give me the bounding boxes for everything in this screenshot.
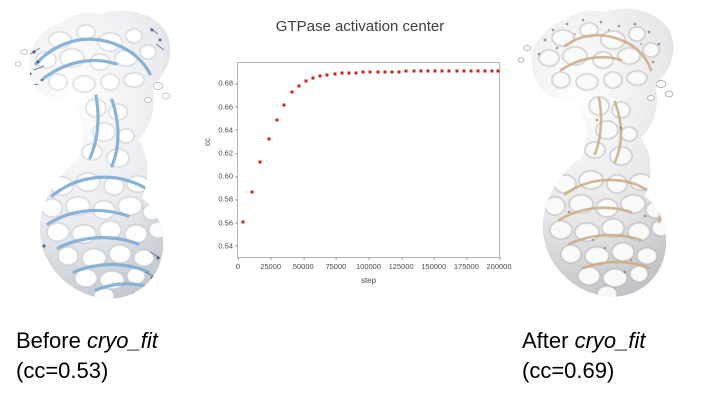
data-point: [276, 119, 279, 122]
y-axis-tick: 0.64: [218, 125, 238, 134]
molecule-image-before: [0, 0, 215, 318]
y-axis-tick: 0.68: [218, 79, 238, 88]
data-point: [259, 161, 262, 164]
caption-before-prefix: Before: [16, 328, 87, 353]
x-axis-tick: 0: [236, 257, 240, 271]
data-point: [304, 80, 307, 83]
data-point: [333, 73, 336, 76]
data-point: [383, 70, 386, 73]
x-axis-label: step: [237, 276, 500, 285]
data-point: [491, 70, 494, 73]
data-point: [390, 70, 393, 73]
caption-before-cc: (cc=0.53): [16, 356, 158, 386]
y-axis-tick: 0.66: [218, 102, 238, 111]
data-point: [297, 84, 300, 87]
data-point: [267, 138, 270, 141]
data-point: [448, 70, 451, 73]
caption-after-cc: (cc=0.69): [522, 356, 646, 386]
data-point: [326, 73, 329, 76]
y-axis-tick: 0.56: [218, 218, 238, 227]
data-point: [242, 221, 245, 224]
y-axis-tick: 0.60: [218, 172, 238, 181]
x-axis-tick: 175000: [454, 257, 479, 271]
data-point: [412, 70, 415, 73]
data-point: [455, 70, 458, 73]
x-axis-tick: 25000: [260, 257, 281, 271]
x-axis-tick: 150000: [421, 257, 446, 271]
data-point: [462, 70, 465, 73]
cc-vs-step-chart: GTPase activation center 0.540.560.580.6…: [205, 8, 515, 300]
data-point: [283, 103, 286, 106]
data-point: [477, 70, 480, 73]
caption-after: After cryo_fit (cc=0.69): [522, 326, 646, 386]
data-point: [347, 71, 350, 74]
data-point: [250, 190, 253, 193]
data-point: [441, 70, 444, 73]
data-point: [290, 91, 293, 94]
x-axis-tick: 50000: [293, 257, 314, 271]
x-axis-tick: 200000: [486, 257, 511, 271]
y-axis-tick: 0.54: [218, 241, 238, 250]
caption-before-program: cryo_fit: [87, 328, 158, 353]
data-point: [426, 70, 429, 73]
data-point: [484, 70, 487, 73]
cryo-em-map-before-svg: [0, 0, 215, 318]
data-point: [398, 70, 401, 73]
y-axis-tick: 0.62: [218, 149, 238, 158]
chart-title: GTPase activation center: [205, 18, 515, 35]
caption-after-program: cryo_fit: [575, 328, 646, 353]
data-point: [469, 70, 472, 73]
data-point: [419, 70, 422, 73]
y-axis-tick: 0.58: [218, 195, 238, 204]
data-point: [434, 70, 437, 73]
data-point: [376, 70, 379, 73]
data-point: [362, 71, 365, 74]
scatter-points-layer: [238, 63, 499, 257]
data-point: [405, 70, 408, 73]
x-axis-tick: 75000: [325, 257, 346, 271]
data-point: [340, 72, 343, 75]
caption-before: Before cryo_fit (cc=0.53): [16, 326, 158, 386]
plot-frame: 0.540.560.580.600.620.640.660.6802500050…: [237, 62, 500, 258]
caption-after-prefix: After: [522, 328, 575, 353]
x-axis-tick: 100000: [356, 257, 381, 271]
cryo-em-map-after-svg: [505, 0, 720, 318]
y-axis-label: cc: [203, 138, 212, 146]
data-point: [312, 77, 315, 80]
data-point: [319, 75, 322, 78]
data-point: [355, 71, 358, 74]
data-point: [369, 71, 372, 74]
data-point: [497, 70, 500, 73]
x-axis-tick: 125000: [389, 257, 414, 271]
molecule-image-after: [505, 0, 720, 318]
